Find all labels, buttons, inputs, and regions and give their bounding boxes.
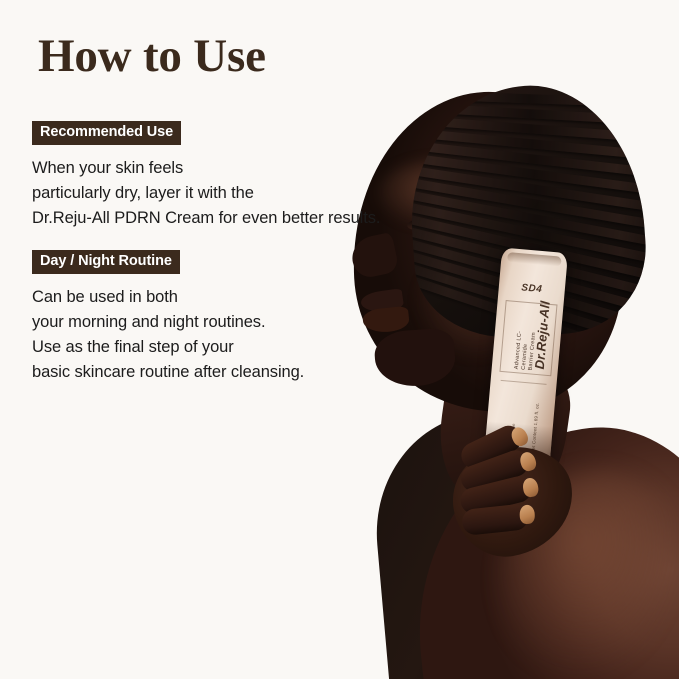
fingernail-4 [519,505,535,525]
section-body: Can be used in both your morning and nig… [32,285,304,385]
page-title: How to Use [38,33,266,80]
tube-seam [507,252,562,267]
how-to-use-page: SD4 Dr.Reju-All Advanced LC-Ceramide Bar… [0,0,679,679]
tube-divider [501,380,547,385]
section-badge: Recommended Use [32,121,181,145]
section-day-night-routine: Day / Night Routine Can be used in both … [32,250,304,385]
model-photo: SD4 Dr.Reju-All Advanced LC-Ceramide Bar… [319,0,679,679]
photo-canvas: SD4 Dr.Reju-All Advanced LC-Ceramide Bar… [319,0,679,679]
tube-code-label: SD4 [498,280,565,297]
section-body: When your skin feels particularly dry, l… [32,156,380,231]
section-badge: Day / Night Routine [32,250,180,274]
hand-shape [427,413,601,587]
tube-descriptor-label: Advanced LC-Ceramide Barrier Cream [514,325,539,371]
section-recommended-use: Recommended Use When your skin feels par… [32,121,380,231]
